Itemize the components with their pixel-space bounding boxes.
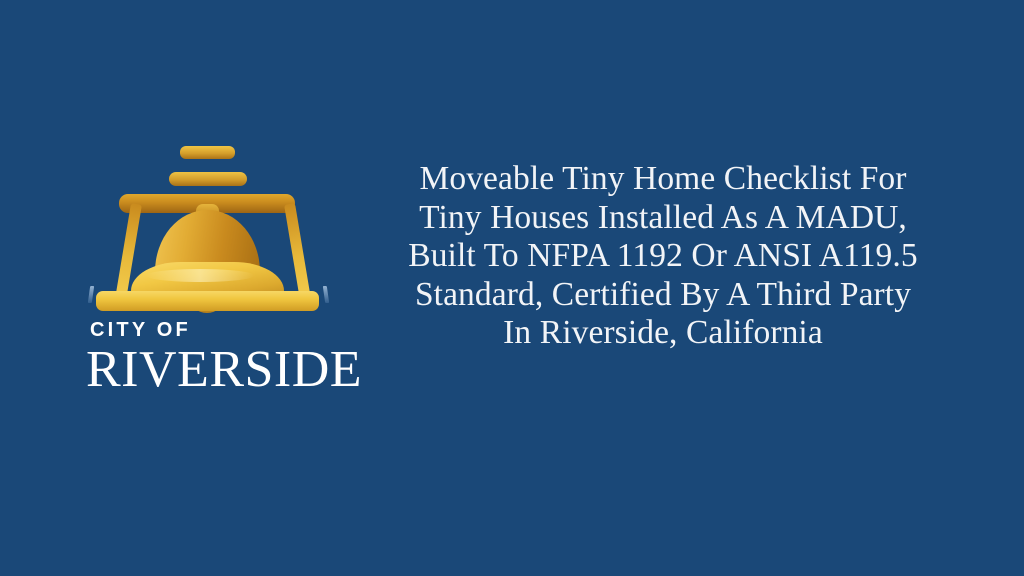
title-line-4: Standard, Certified By A Third Party	[372, 276, 954, 315]
title-line-3: Built To NFPA 1192 Or ANSI A119.5	[372, 237, 954, 276]
city-of-riverside-logo: CITY OF RIVERSIDE	[72, 122, 372, 394]
title-line-5: In Riverside, California	[372, 314, 954, 353]
logo-wordmark-riverside: RIVERSIDE	[86, 343, 376, 398]
logo-wordmark: CITY OF RIVERSIDE	[86, 320, 376, 398]
bell-frame-right-leg	[284, 203, 311, 301]
bell-base-right-tick	[323, 286, 329, 303]
bell-base-left-tick	[88, 286, 94, 303]
slide-canvas: CITY OF RIVERSIDE Moveable Tiny Home Che…	[0, 0, 1024, 576]
title-line-2: Tiny Houses Installed As A MADU,	[372, 199, 954, 238]
mission-bell-icon	[72, 122, 372, 322]
bell-lip-highlight	[146, 269, 254, 282]
bell-frame-base-bar	[96, 291, 319, 311]
title-line-1: Moveable Tiny Home Checklist For	[372, 160, 954, 199]
page-title: Moveable Tiny Home Checklist For Tiny Ho…	[372, 160, 954, 353]
logo-wordmark-city-of: CITY OF	[86, 320, 376, 341]
